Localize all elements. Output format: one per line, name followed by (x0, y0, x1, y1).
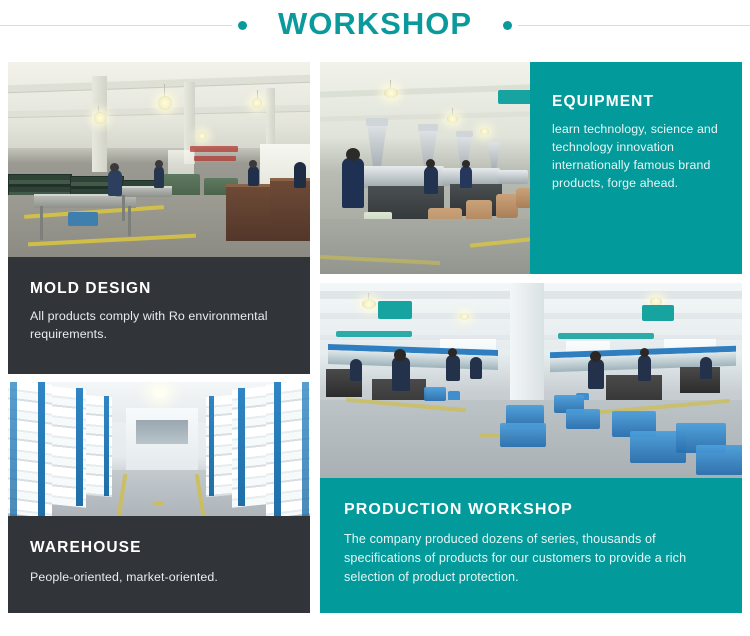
equipment-caption: EQUIPMENT learn technology, science and … (530, 62, 742, 274)
production-workshop-text: The company produced dozens of series, t… (344, 530, 718, 587)
page-title: WORKSHOP (0, 4, 750, 44)
production-workshop-caption: PRODUCTION WORKSHOP The company produced… (320, 478, 742, 613)
workshop-page: WORKSHOP (0, 0, 750, 636)
warehouse-photo[interactable] (8, 382, 310, 516)
production-workshop-photo[interactable] (320, 283, 742, 478)
header-rule-right (518, 25, 750, 26)
mold-design-title: MOLD DESIGN (30, 279, 288, 298)
section-header: WORKSHOP (0, 0, 750, 52)
mold-design-text: All products comply with Ro environmenta… (30, 307, 288, 343)
mold-design-photo[interactable] (8, 62, 310, 257)
bullet-dot-right-icon (503, 21, 512, 30)
equipment-title: EQUIPMENT (552, 92, 720, 111)
equipment-photo[interactable] (320, 62, 532, 274)
warehouse-caption: WAREHOUSE People-oriented, market-orient… (8, 516, 310, 613)
equipment-text: learn technology, science and technology… (552, 120, 720, 192)
warehouse-title: WAREHOUSE (30, 538, 288, 557)
production-workshop-title: PRODUCTION WORKSHOP (344, 500, 718, 519)
warehouse-text: People-oriented, market-oriented. (30, 568, 288, 586)
mold-design-caption: MOLD DESIGN All products comply with Ro … (8, 257, 310, 374)
